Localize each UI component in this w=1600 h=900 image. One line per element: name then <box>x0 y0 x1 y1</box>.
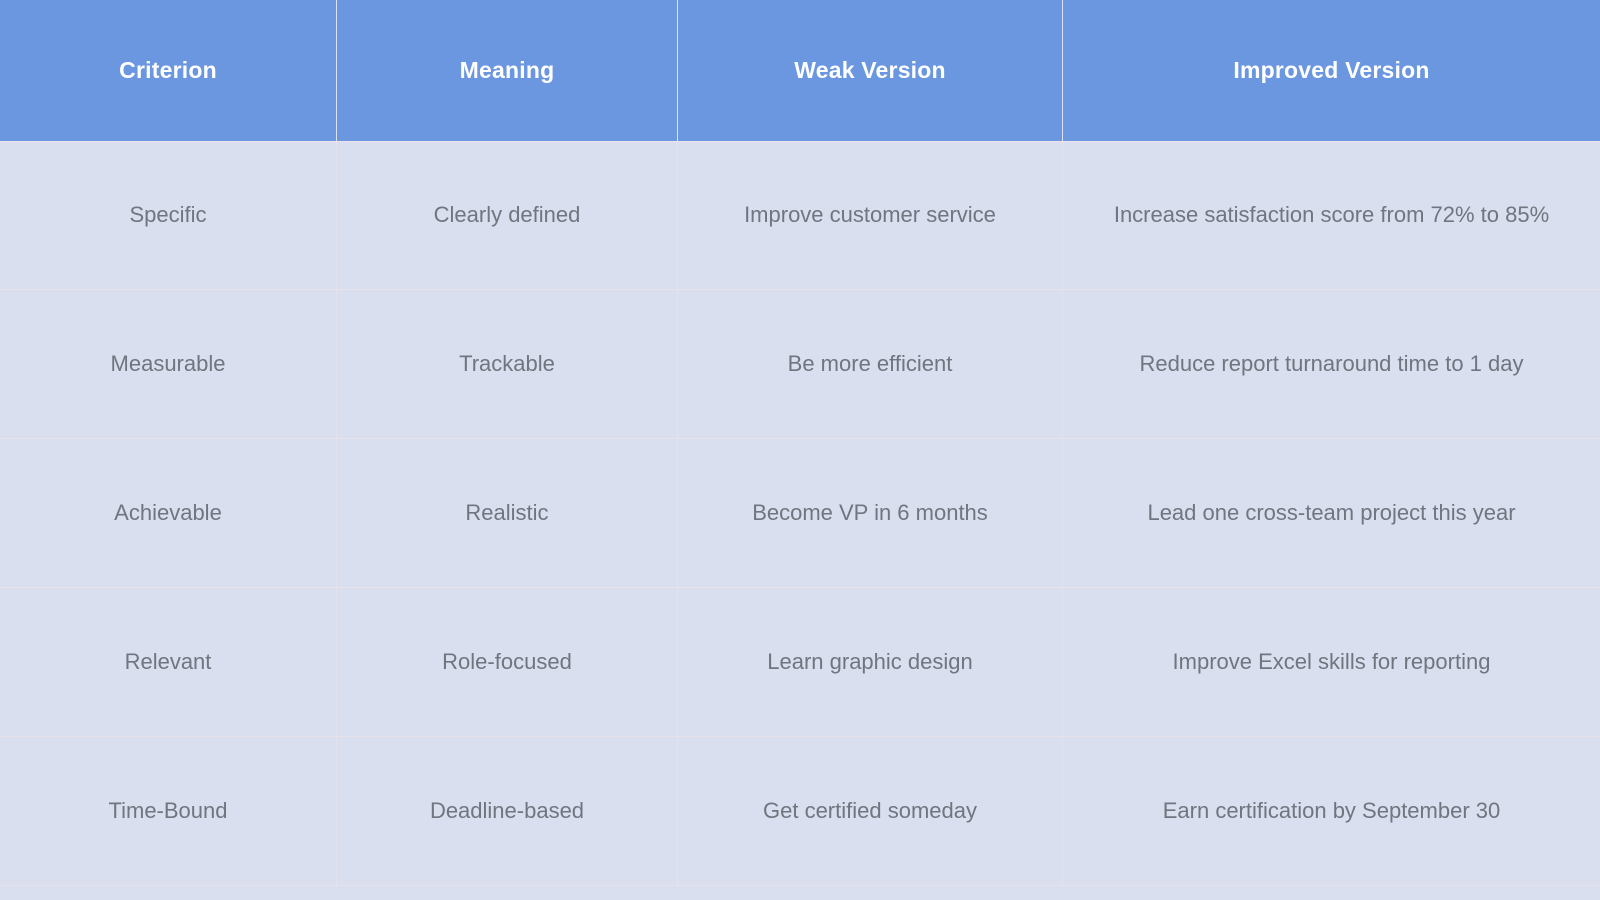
cell-criterion: Achievable <box>0 439 337 587</box>
cell-criterion: Time-Bound <box>0 737 337 885</box>
cell-improved-version: Lead one cross-team project this year <box>1063 439 1600 587</box>
cell-criterion: Measurable <box>0 290 337 438</box>
cell-criterion: Relevant <box>0 588 337 736</box>
cell-meaning: Clearly defined <box>337 142 678 289</box>
table-body: Specific Clearly defined Improve custome… <box>0 141 1600 900</box>
column-header-weak-version[interactable]: Weak Version <box>678 0 1063 141</box>
cell-meaning: Role-focused <box>337 588 678 736</box>
cell-criterion: Specific <box>0 142 337 289</box>
cell-weak-version: Get certified someday <box>678 737 1063 885</box>
cell-weak-version: Be more efficient <box>678 290 1063 438</box>
cell-weak-version: Learn graphic design <box>678 588 1063 736</box>
table-row: Measurable Trackable Be more efficient R… <box>0 290 1600 439</box>
cell-meaning: Deadline-based <box>337 737 678 885</box>
table-row: Achievable Realistic Become VP in 6 mont… <box>0 439 1600 588</box>
cell-weak-version: Improve customer service <box>678 142 1063 289</box>
column-header-meaning[interactable]: Meaning <box>337 0 678 141</box>
table-row: Time-Bound Deadline-based Get certified … <box>0 737 1600 886</box>
column-header-criterion[interactable]: Criterion <box>0 0 337 141</box>
table-row: Relevant Role-focused Learn graphic desi… <box>0 588 1600 737</box>
column-header-improved-version[interactable]: Improved Version <box>1063 0 1600 141</box>
cell-improved-version: Improve Excel skills for reporting <box>1063 588 1600 736</box>
cell-meaning: Realistic <box>337 439 678 587</box>
cell-improved-version: Earn certification by September 30 <box>1063 737 1600 885</box>
cell-improved-version: Reduce report turnaround time to 1 day <box>1063 290 1600 438</box>
cell-meaning: Trackable <box>337 290 678 438</box>
cell-improved-version: Increase satisfaction score from 72% to … <box>1063 142 1600 289</box>
smart-criteria-table: Criterion Meaning Weak Version Improved … <box>0 0 1600 900</box>
cell-weak-version: Become VP in 6 months <box>678 439 1063 587</box>
table-header-row: Criterion Meaning Weak Version Improved … <box>0 0 1600 141</box>
table-row: Specific Clearly defined Improve custome… <box>0 141 1600 290</box>
